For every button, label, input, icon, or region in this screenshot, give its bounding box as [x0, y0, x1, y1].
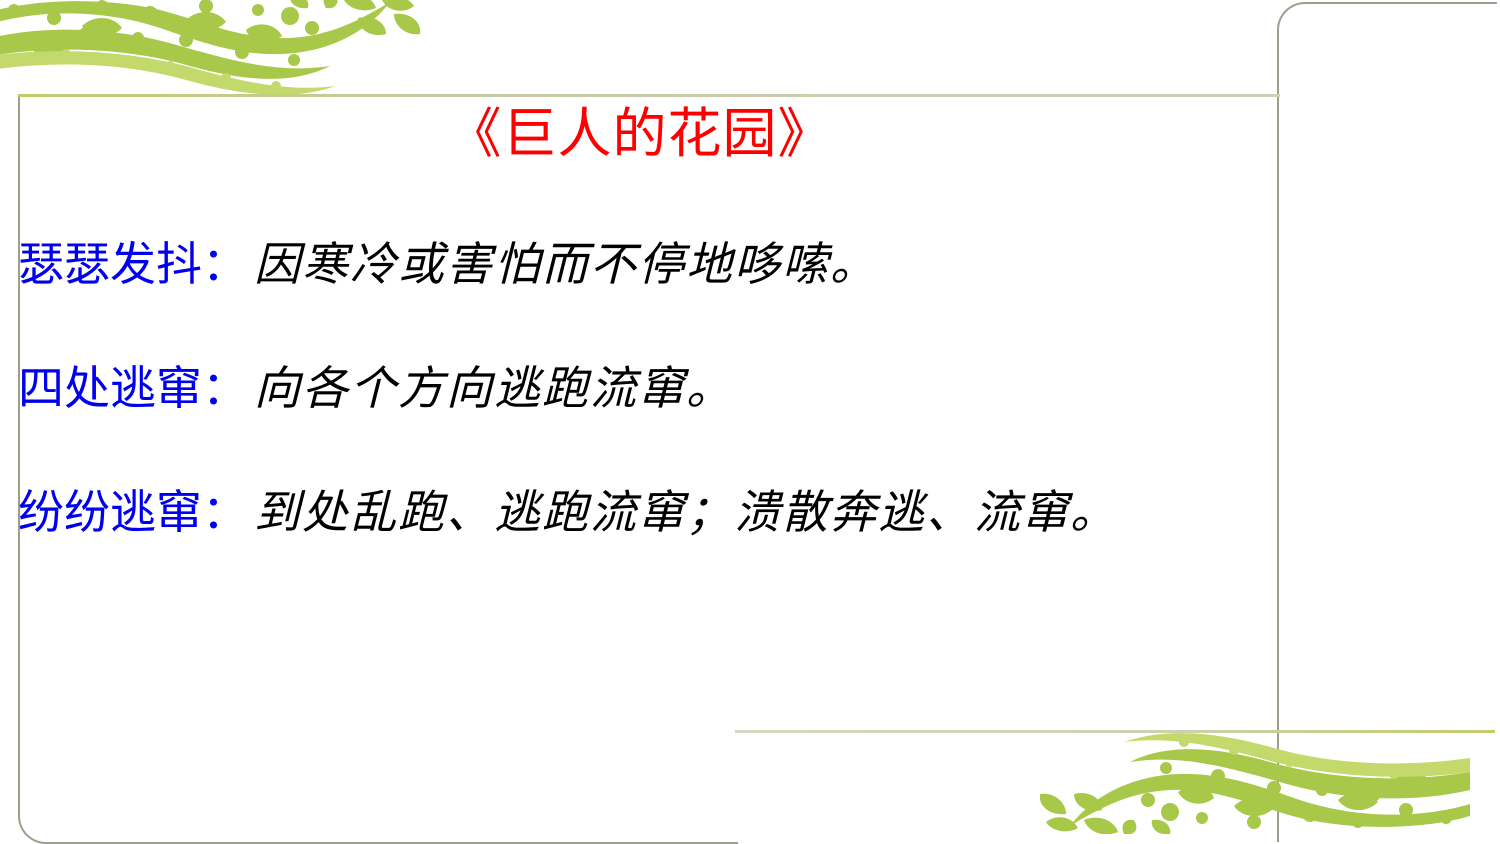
floral-ornament-top-left-icon	[0, 0, 460, 104]
list-item: 纷纷逃窜： 到处乱跑、逃跑流窜；溃散奔逃、流窜。	[18, 476, 1438, 542]
horizontal-rule-bottom	[735, 730, 1495, 733]
slide-canvas: 《巨人的花园》 瑟瑟发抖： 因寒冷或害怕而不停地哆嗦。 四处逃窜： 向各个方向逃…	[0, 0, 1500, 844]
vocabulary-term: 纷纷逃窜：	[18, 476, 248, 542]
definition-list: 瑟瑟发抖： 因寒冷或害怕而不停地哆嗦。 四处逃窜： 向各个方向逃跑流窜。 纷纷逃…	[18, 228, 1438, 542]
vocabulary-definition: 到处乱跑、逃跑流窜；溃散奔逃、流窜。	[254, 476, 1118, 542]
vocabulary-definition: 因寒冷或害怕而不停地哆嗦。	[254, 228, 878, 294]
vocabulary-term: 四处逃窜：	[18, 352, 248, 418]
vocabulary-definition: 向各个方向逃跑流窜。	[254, 352, 734, 418]
vocabulary-term: 瑟瑟发抖：	[18, 228, 248, 294]
page-title: 《巨人的花园》	[0, 104, 1280, 163]
list-item: 四处逃窜： 向各个方向逃跑流窜。	[18, 352, 1438, 418]
horizontal-rule-top	[18, 94, 1280, 97]
list-item: 瑟瑟发抖： 因寒冷或害怕而不停地哆嗦。	[18, 228, 1438, 294]
